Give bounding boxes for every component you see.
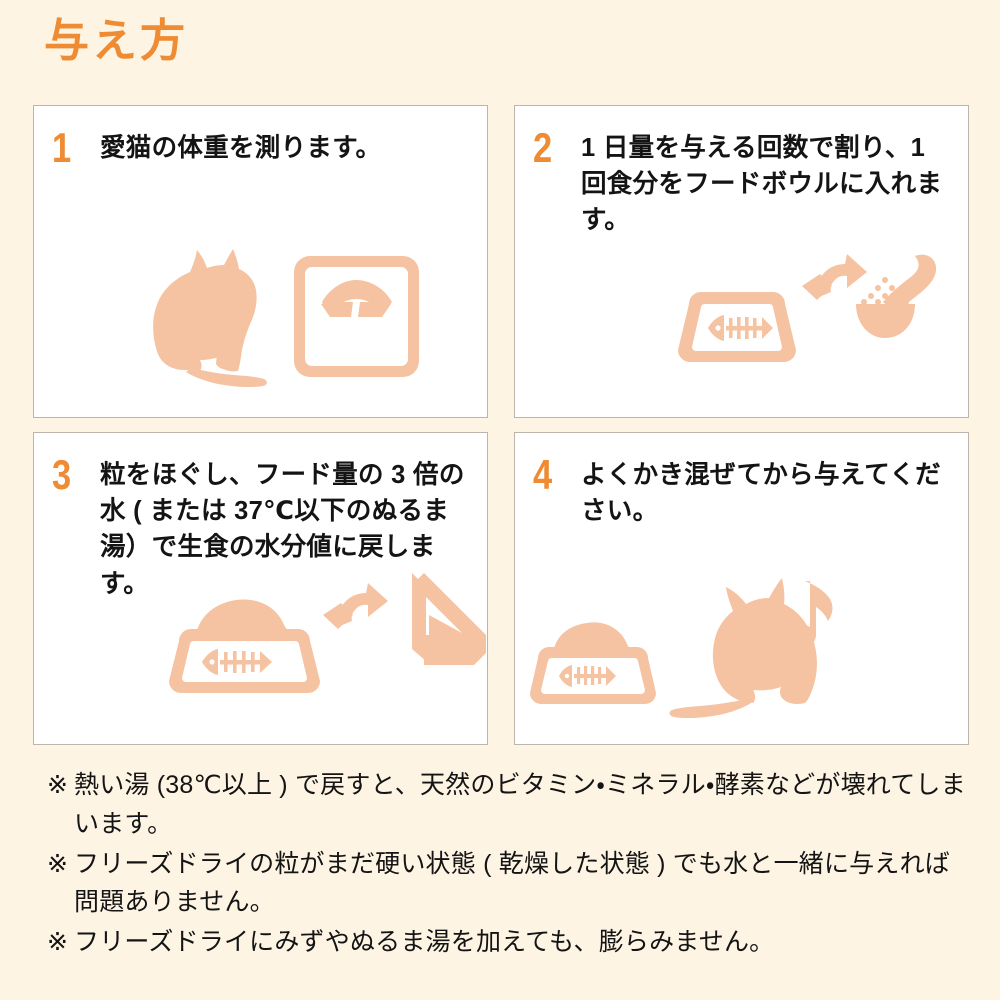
steps-grid: 1 愛猫の体重を測ります。 xyxy=(33,105,969,745)
water-pitcher-icon xyxy=(412,573,486,665)
footnote-1: ※ 熱い湯 (38℃以上 ) で戻すと、天然のビタミン・ミネラル・酵素などが壊れ… xyxy=(47,766,967,844)
step-text-1: 愛猫の体重を測ります。 xyxy=(100,128,469,166)
kibble-scoop-icon xyxy=(856,255,936,338)
weight-scale-icon xyxy=(294,256,419,377)
footnote-text: フリーズドライにみずやぬるま湯を加えても、膨らみません。 xyxy=(74,928,774,956)
step-illustration-2 xyxy=(515,242,968,417)
step-text-4: よくかき混ぜてから与えてください。 xyxy=(581,455,950,529)
sitting-cat-icon xyxy=(153,249,267,387)
page-title: 与え方 xyxy=(44,18,188,63)
step-card-2: 2 1 日量を与える回数で割り、1 回食分をフードボウルに入れます。 xyxy=(514,105,969,418)
footnote-text: 熱い湯 (38℃以上 ) で戻すと、天然のビタミン・ミネラル・酵素などが壊れてし… xyxy=(74,771,966,838)
step-card-1: 1 愛猫の体重を測ります。 xyxy=(33,105,488,418)
footnote-mark: ※ xyxy=(47,923,68,962)
footnote-mark: ※ xyxy=(47,766,68,805)
step-card-3: 3 粒をほぐし、フード量の 3 倍の水 ( または 37℃以下のぬるま湯）で生食… xyxy=(33,432,488,745)
footnote-text: フリーズドライの粒がまだ硬い状態 ( 乾燥した状態 ) でも水と一緒に与えれば問… xyxy=(74,850,950,917)
step-header-2: 2 1 日量を与える回数で割り、1 回食分をフードボウルに入れます。 xyxy=(515,106,968,239)
footnote-3: ※ フリーズドライにみずやぬるま湯を加えても、膨らみません。 xyxy=(47,923,967,962)
footnotes-list: ※ 熱い湯 (38℃以上 ) で戻すと、天然のビタミン・ミネラル・酵素などが壊れ… xyxy=(47,766,967,963)
footnote-mark: ※ xyxy=(47,845,68,884)
step-illustration-3 xyxy=(34,569,487,744)
step-number-3: 3 xyxy=(52,455,91,495)
step-illustration-1 xyxy=(34,242,487,417)
step-number-1: 1 xyxy=(52,128,91,168)
footnote-2: ※ フリーズドライの粒がまだ硬い状態 ( 乾燥した状態 ) でも水と一緒に与えれ… xyxy=(47,845,967,923)
step-number-4: 4 xyxy=(533,455,572,495)
food-bowl-with-mound-icon xyxy=(169,599,320,693)
step-header-4: 4 よくかき混ぜてから与えてください。 xyxy=(515,433,968,529)
curved-arrow-icon xyxy=(802,254,867,300)
step-illustration-4 xyxy=(515,569,968,744)
step-number-2: 2 xyxy=(533,128,572,168)
sitting-cat-icon xyxy=(670,578,817,718)
curved-arrow-icon xyxy=(323,583,388,629)
food-bowl-fishbone-icon xyxy=(678,292,796,362)
step-header-1: 1 愛猫の体重を測ります。 xyxy=(34,106,487,168)
infographic-page: 与え方 1 愛猫の体重を測ります。 xyxy=(0,0,1000,1000)
step-card-4: 4 よくかき混ぜてから与えてください。 xyxy=(514,432,969,745)
step-text-2: 1 日量を与える回数で割り、1 回食分をフードボウルに入れます。 xyxy=(581,128,950,239)
food-bowl-with-mound-icon xyxy=(530,622,656,704)
